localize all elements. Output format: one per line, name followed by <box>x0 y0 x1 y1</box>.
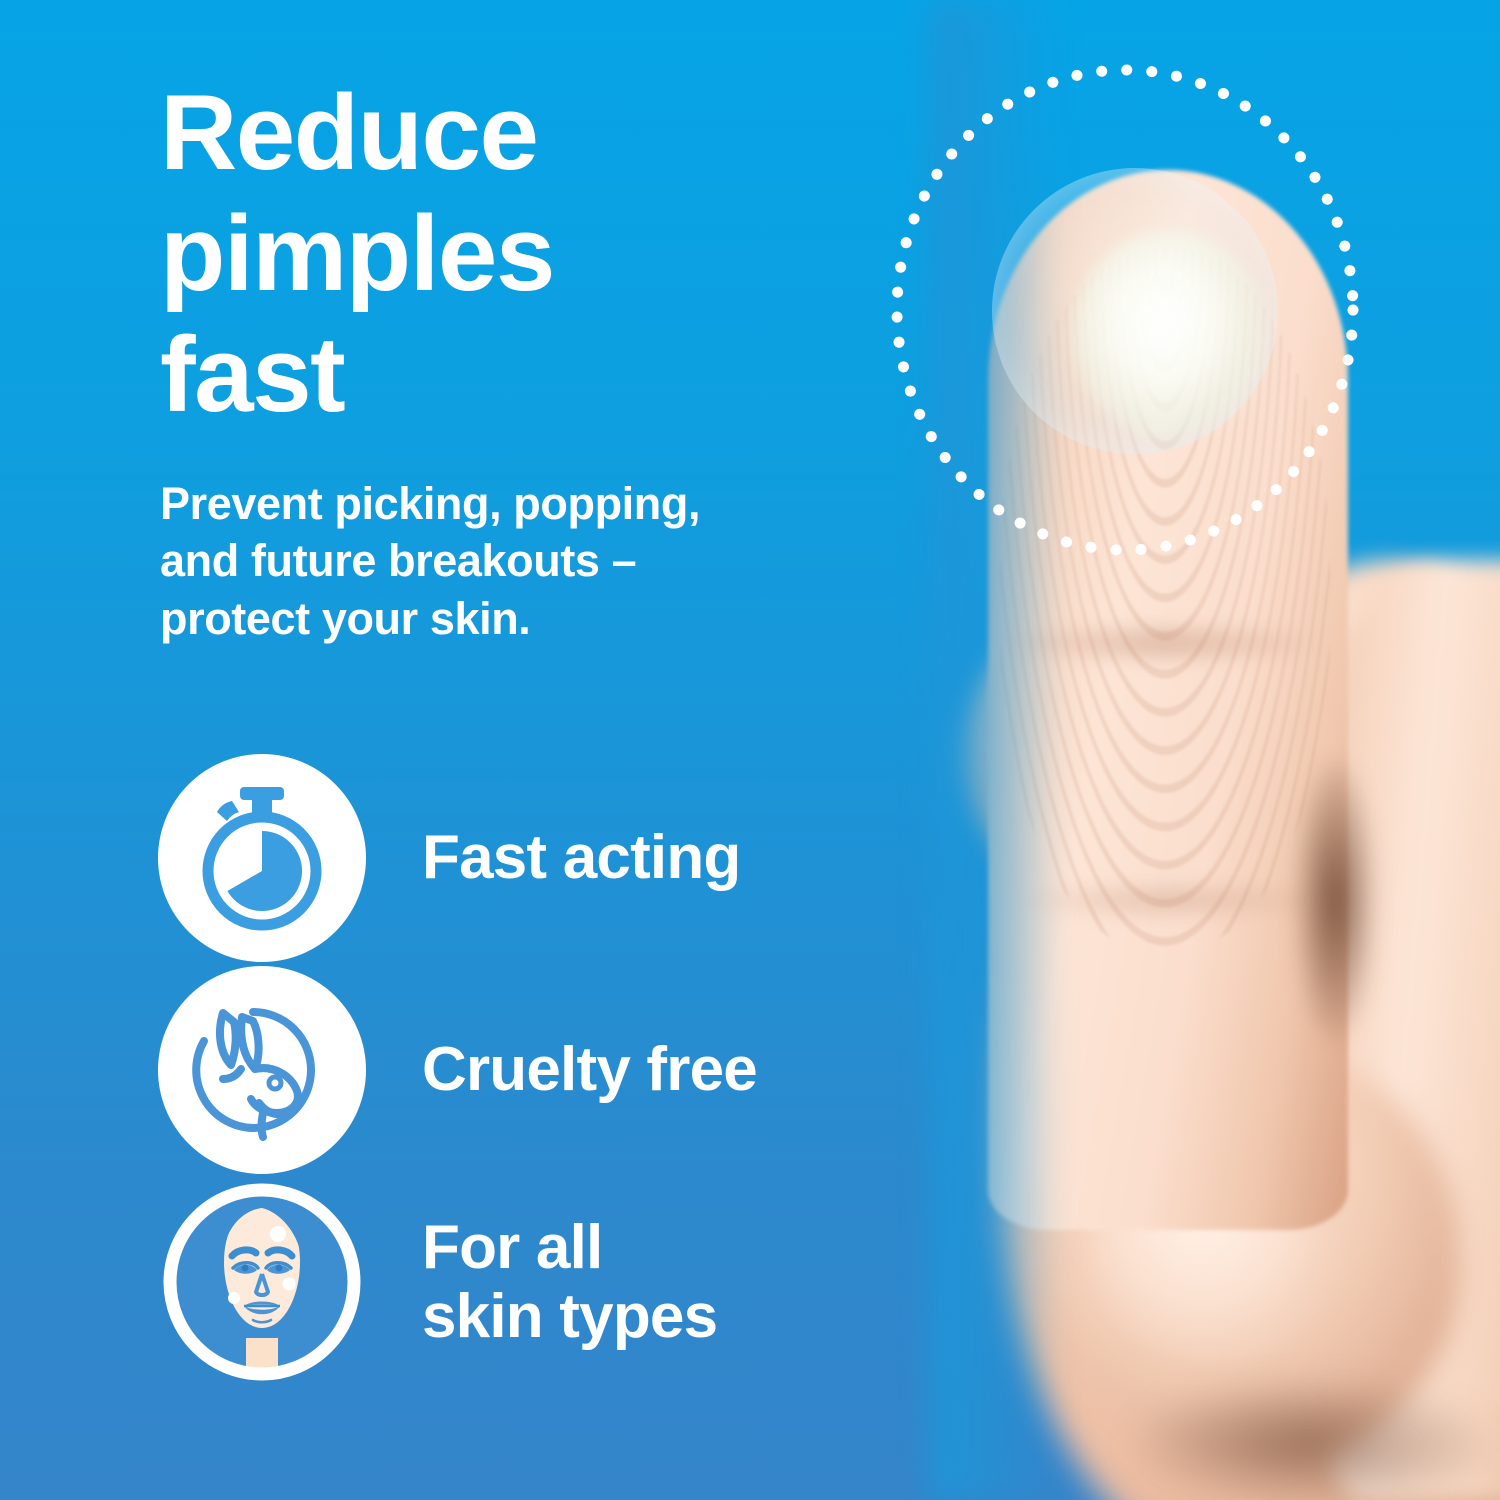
thumbnail-highlight <box>1090 1130 1340 1360</box>
curled-finger-mass <box>960 600 1290 900</box>
finger-crease <box>1010 620 1320 666</box>
upper-finger-mass <box>1265 560 1500 790</box>
feature-badge <box>158 754 366 962</box>
woman-face-icon <box>158 1178 366 1386</box>
finger-shadow-gap <box>1130 1380 1490 1500</box>
dotted-highlight-circle <box>885 55 1365 565</box>
thumb-mass <box>1030 1040 1460 1460</box>
index-finger <box>988 170 1348 1230</box>
right-finger-mass <box>1330 560 1500 1500</box>
feature-row-cruelty-free: Cruelty free <box>158 964 998 1176</box>
feature-list: Fast acting <box>158 752 998 1388</box>
feature-row-fast-acting: Fast acting <box>158 752 998 964</box>
subheadline: Prevent picking, popping, and future bre… <box>160 475 920 648</box>
stopwatch-icon <box>192 783 332 933</box>
patch-dot <box>228 1292 240 1304</box>
patch-highlight-gloss <box>1072 230 1268 440</box>
page-title: Reduce pimples fast <box>160 72 920 435</box>
patch-dot <box>283 1278 296 1291</box>
feature-label: Cruelty free <box>422 1035 757 1104</box>
feature-label: Fast acting <box>422 823 741 892</box>
feature-badge <box>158 966 366 1174</box>
rabbit-icon <box>187 995 337 1145</box>
fingerprint-ridges <box>1000 250 1330 950</box>
feature-label: For all skin types <box>422 1213 717 1352</box>
patch-dot <box>270 1226 286 1242</box>
finger-crease <box>1020 880 1320 920</box>
product-feature-banner: Reduce pimples fast Prevent picking, pop… <box>0 0 1500 1500</box>
finger-shadow-gap <box>1295 760 1375 1040</box>
copy-block: Reduce pimples fast Prevent picking, pop… <box>160 72 920 648</box>
feature-badge <box>158 1178 366 1386</box>
hydrocolloid-patch <box>992 168 1278 454</box>
feature-row-all-skin-types: For all skin types <box>158 1176 998 1388</box>
palm-mass <box>995 700 1500 1500</box>
